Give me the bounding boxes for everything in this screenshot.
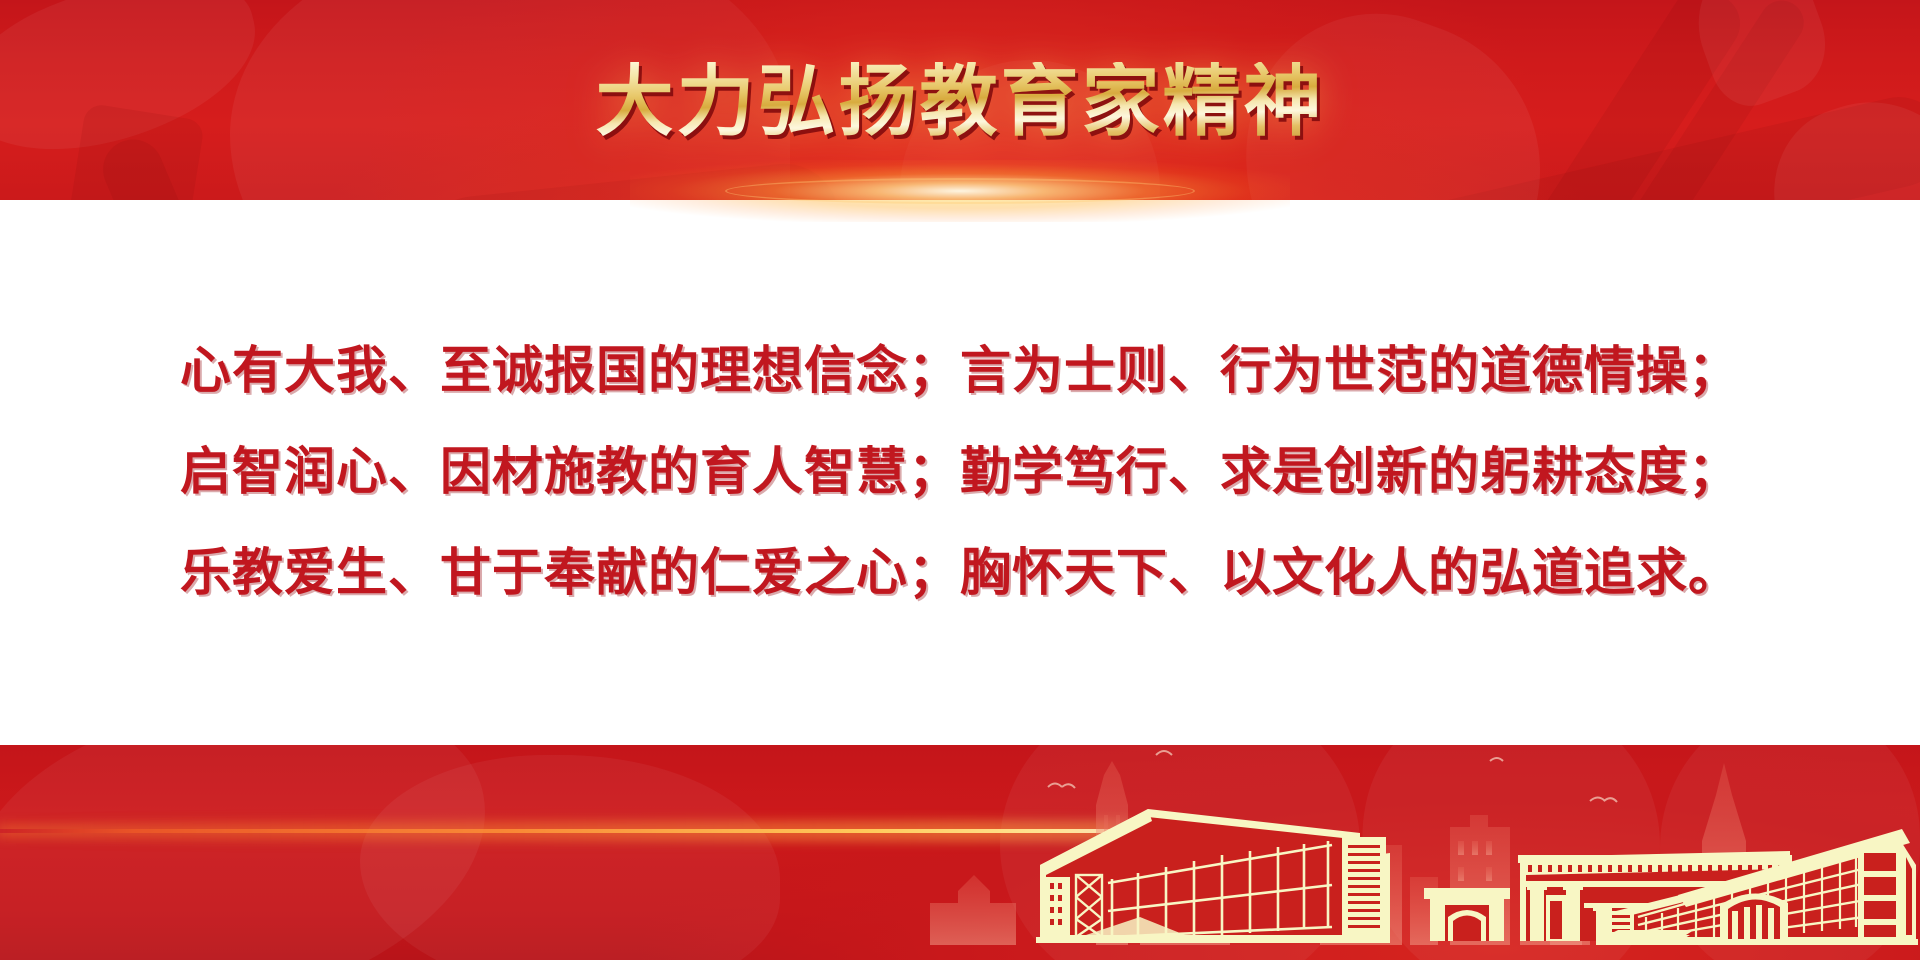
calligraphy-watermark: [360, 755, 780, 960]
title-container: 大力弘扬教育家精神: [0, 62, 1920, 144]
building-modern-hall: [1036, 809, 1390, 943]
slogan-line-1: 心有大我、至诚报国的理想信念；言为士则、行为世范的道德情操；: [34, 346, 1886, 397]
bird-icon: [1048, 751, 1617, 802]
slogan-line-3: 乐教爱生、甘于奉献的仁爱之心；胸怀天下、以文化人的弘道追求。: [34, 548, 1886, 599]
campus-skyline: [890, 745, 1920, 960]
slogan-panel: 心有大我、至诚报国的理想信念；言为士则、行为世范的道德情操； 启智润心、因材施教…: [0, 200, 1920, 745]
calligraphy-watermark: [415, 158, 844, 200]
calligraphy-watermark: [0, 745, 512, 960]
slogan-line-2: 启智润心、因材施教的育人智慧；勤学笃行、求是创新的躬耕态度；: [34, 447, 1886, 498]
page-title: 大力弘扬教育家精神: [595, 62, 1324, 144]
building-small-gate: [1424, 888, 1510, 941]
bottom-red-banner: [0, 745, 1920, 960]
poster-root: 大力弘扬教育家精神 心有大我、至诚报国的理想信念；言为士则、行为世范的道德情操；…: [0, 0, 1920, 960]
